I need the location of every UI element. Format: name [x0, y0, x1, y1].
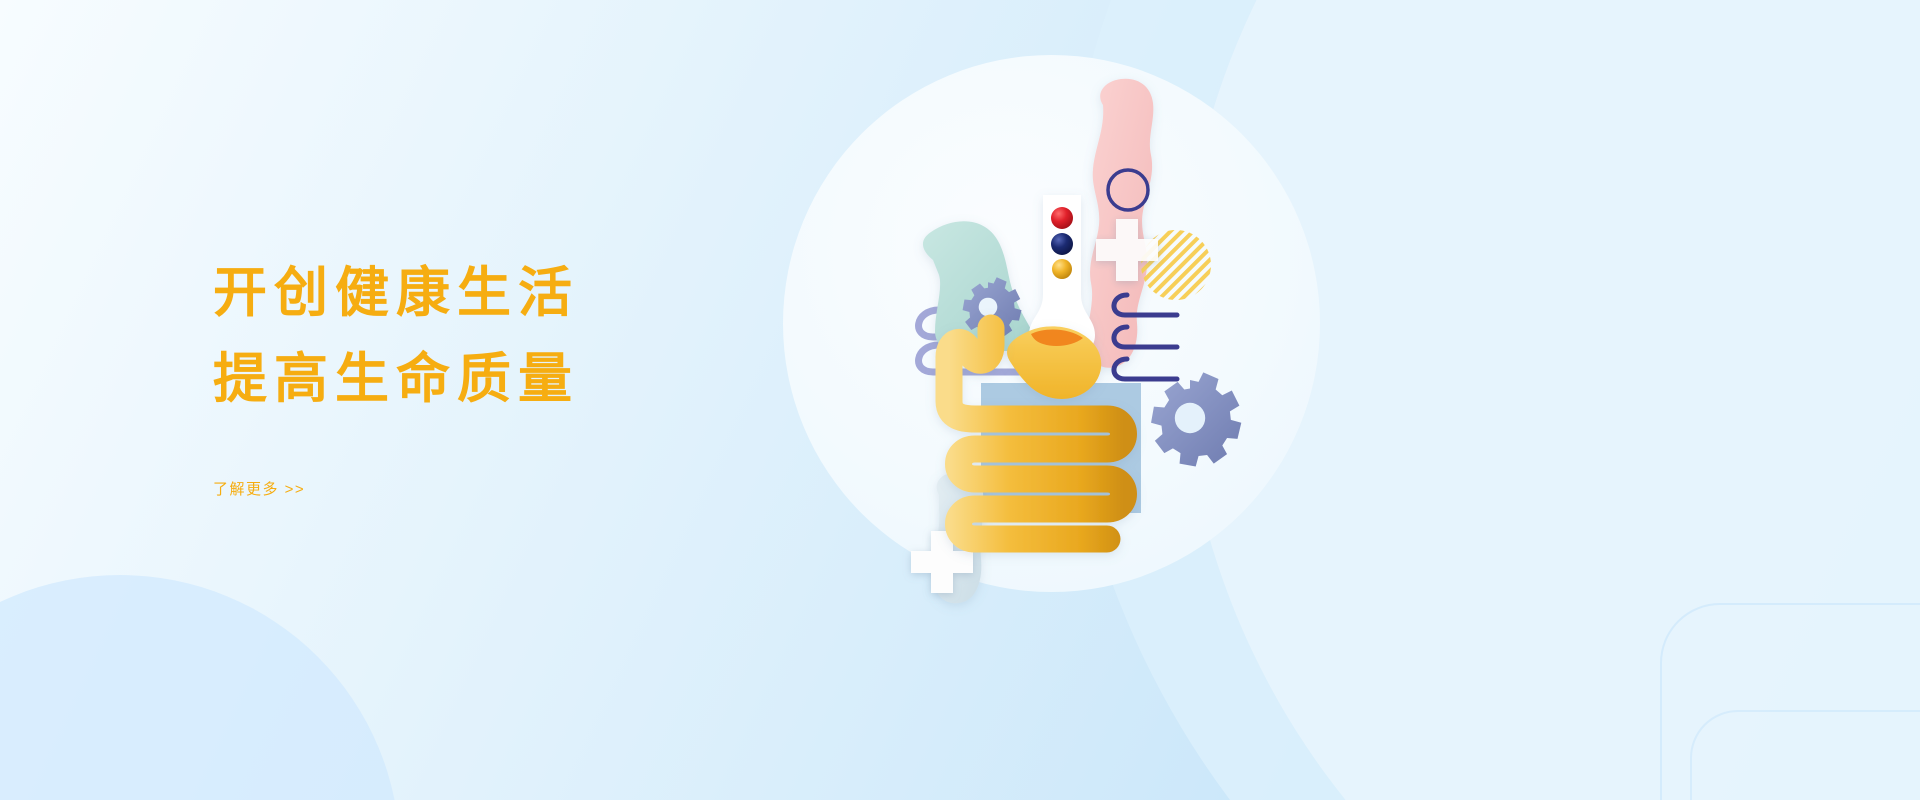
test-tube-bead-yellow	[1052, 259, 1072, 279]
gear-large	[1151, 372, 1241, 466]
hero-banner: 开创健康生活 提高生命质量 了解更多 >>	[0, 0, 1920, 800]
hero-text-block: 开创健康生活 提高生命质量 了解更多 >>	[213, 250, 833, 499]
background-circle-bottom-left	[0, 575, 400, 800]
headline-line-2: 提高生命质量	[213, 336, 833, 422]
headline-line-1: 开创健康生活	[213, 250, 833, 336]
test-tube-bead-navy	[1051, 233, 1073, 255]
test-tube-bead-red	[1051, 207, 1073, 229]
learn-more-link[interactable]: 了解更多 >>	[213, 478, 305, 499]
digestive-system-illustration	[783, 55, 1320, 592]
background-rounded-rect-2	[1690, 710, 1920, 800]
illustration-svg	[743, 45, 1383, 645]
